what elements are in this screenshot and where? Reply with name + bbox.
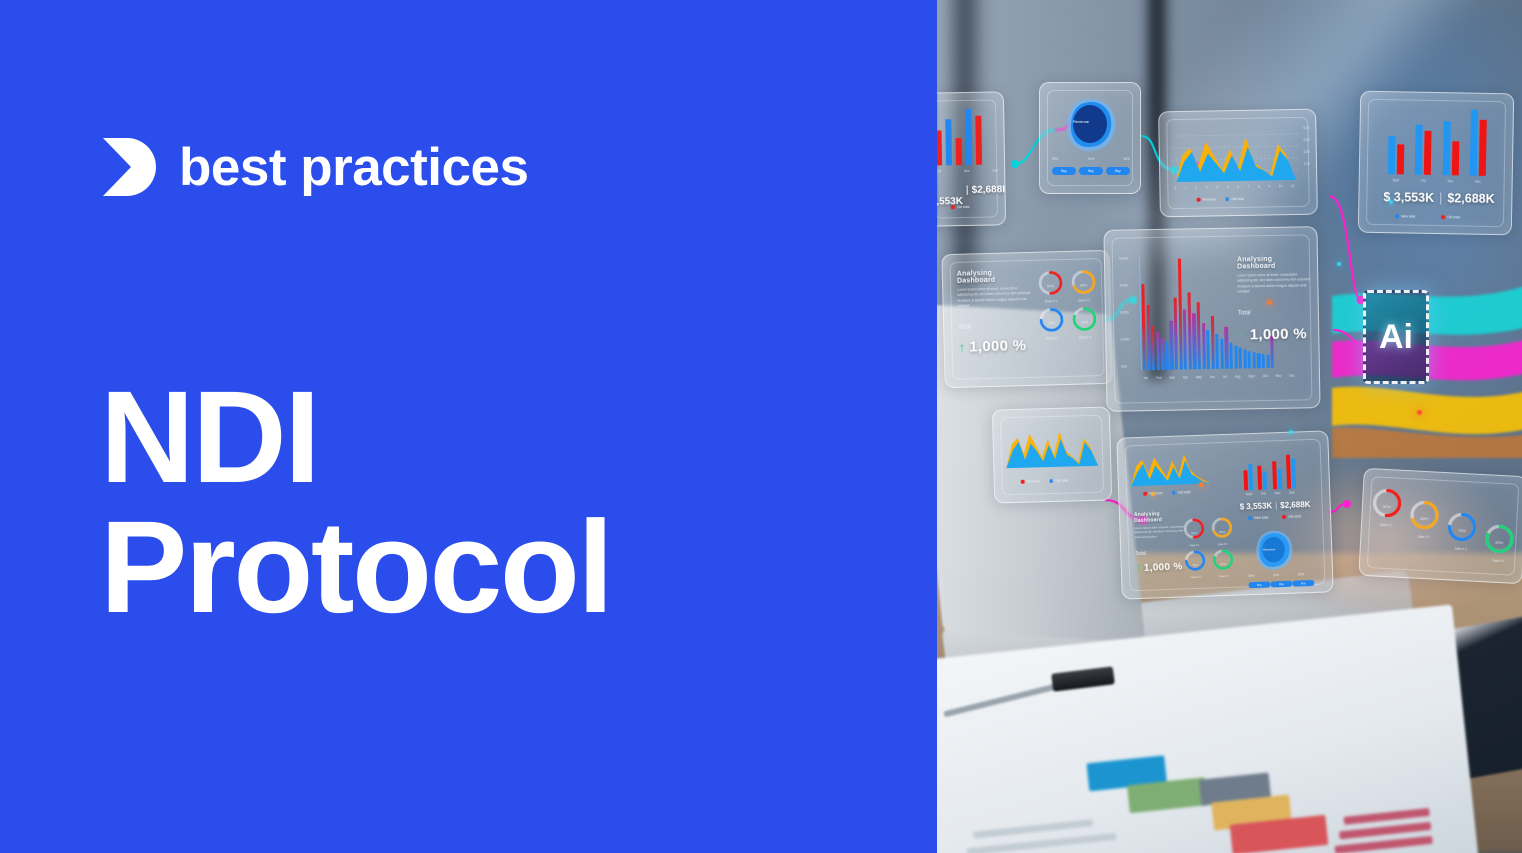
axis-tick: Jan [1143, 376, 1148, 380]
panel-body: Lorem ipsum dolor sit amet, consectetur … [957, 286, 1032, 309]
axis-tick: 3,00 [1304, 150, 1310, 154]
panel-area-top[interactable]: 5,00 4,00 3,00 2,00 0123 4567 891011 Rev… [1158, 109, 1318, 218]
gauge-data-1[interactable]: 50% Data # 1 [1037, 270, 1065, 304]
trend-up-icon: ↑ [1136, 563, 1141, 573]
promo-banner: best practices NDI Protocol [0, 0, 1522, 853]
axis-tick: Sept [1393, 178, 1400, 182]
value-old-total: $2,688K [972, 184, 1007, 196]
separator: | [1439, 191, 1442, 205]
panel-revenue[interactable]: Revenue 39% 34% 63% Buy Buy Buy [1039, 82, 1141, 194]
axis-tick: 4,000 [1119, 283, 1128, 287]
legend-old: Old total [1441, 215, 1460, 219]
buy-button[interactable]: Buy [1292, 580, 1314, 587]
stat-value: 34% [1088, 157, 1094, 161]
axis-tick: 5,00 [1303, 126, 1309, 130]
value-old-total: $2,688K [1280, 500, 1311, 510]
gauge-data-2[interactable]: 68% Data # 2 [1407, 499, 1441, 540]
gauge-value: 68% [1211, 530, 1234, 535]
axis-tick: Dec [1289, 491, 1295, 495]
axis-tick: May [1196, 375, 1202, 379]
gauge-data-4[interactable]: 80% Data # 4 [1482, 523, 1516, 564]
hero-photo: Oct Nov Dec $ 3,553K | $2,688K Old total… [937, 0, 1522, 853]
buy-button[interactable]: Buy [1248, 581, 1270, 588]
axis-tick: Sept [1248, 374, 1255, 378]
panel-main-dashboard[interactable]: 5,000 4,000 3,000 2,000 100 [1103, 226, 1320, 412]
axis-tick: Oct [1263, 374, 1268, 378]
sparkle [1389, 200, 1393, 204]
axis-tick: Jun [1210, 375, 1215, 379]
panel-title: Analysing Dashboard [1134, 510, 1184, 524]
trend-up-icon: ↑ [1238, 328, 1245, 341]
axis-tick: Nov [1275, 491, 1281, 495]
gauge-data-3[interactable]: 75% Data # 3 [1038, 307, 1066, 341]
total-label: Total [958, 323, 1032, 331]
panel-bars-left[interactable]: Oct Nov Dec $ 3,553K | $2,688K Old total [937, 91, 1006, 226]
stat-value: 34% [1273, 573, 1280, 577]
gauge-data-1[interactable]: 50% Data # 1 [1182, 518, 1206, 548]
page-title: NDI Protocol [100, 372, 611, 631]
panel-bars-right[interactable]: Sept Oct Nov Dec $ 3,553K | $2,688K New … [1358, 91, 1514, 236]
axis-tick: Nov [1448, 179, 1454, 183]
legend-old: Old total [951, 205, 970, 209]
legend-revenue: Revenue [1197, 197, 1217, 201]
buy-button[interactable]: Buy [1052, 167, 1076, 175]
legend-old: Old total [1225, 197, 1244, 201]
axis-tick: Aug [1235, 375, 1241, 379]
stat-value: 63% [1124, 157, 1130, 161]
gauge-value: 68% [1070, 283, 1097, 288]
legend-old: Old total [1049, 479, 1068, 483]
gauge-label: Data # 3 [1445, 546, 1477, 552]
revenue-center-label: Revenue [1263, 547, 1275, 551]
panel-composite-bottom[interactable]: Revenue Old total Sept Oct Nov Dec $ 3,5… [1116, 430, 1334, 599]
gauge-label: Data # 1 [1370, 522, 1402, 528]
area-chart [1003, 420, 1100, 470]
axis-tick: Dec [992, 168, 998, 172]
left-blue-panel: best practices NDI Protocol [0, 0, 937, 853]
axis-tick: Oct [1261, 492, 1266, 496]
buy-button[interactable]: Buy [1106, 167, 1130, 175]
gauge-value: 75% [1038, 321, 1065, 326]
chip-body: Ai [1363, 290, 1429, 384]
buy-button[interactable]: Buy [1079, 167, 1103, 175]
gauge-data-4[interactable]: 80% Data # 4 [1211, 549, 1235, 579]
panel-body: Lorem ipsum dolor sit amet, consectetur … [1134, 524, 1184, 539]
sparkle [1267, 300, 1272, 305]
legend-new: New total [1248, 515, 1268, 520]
gauge-label: Data # 4 [1071, 335, 1098, 340]
gauge-value: 50% [1183, 531, 1206, 536]
gauge-label: Data # 2 [1070, 298, 1097, 303]
legend-old: Old total [1172, 490, 1191, 495]
axis-tick: Sept [1246, 492, 1253, 496]
gauge-label: Data # 1 [1183, 544, 1206, 548]
revenue-blob-chart [1064, 97, 1118, 153]
stat-value: 39% [1248, 574, 1255, 578]
panel-donuts-left[interactable]: Analysing Dashboard Lorem ipsum dolor si… [941, 250, 1112, 388]
legend-old: Old total [1282, 514, 1301, 519]
legend-new: New total [1395, 214, 1415, 218]
axis-tick: 3,000 [1120, 310, 1129, 314]
separator: | [966, 185, 969, 196]
panel-title: Analysing Dashboard [1237, 255, 1311, 270]
gauge-label: Data # 3 [1038, 336, 1065, 341]
sparkle [1151, 492, 1155, 496]
total-label: Total [1238, 309, 1312, 316]
panel-donuts-row[interactable]: 50% Data # 1 68% Data # 2 75% Data # 3 8… [1358, 468, 1522, 584]
gauge-data-4[interactable]: 80% Data # 4 [1071, 306, 1099, 340]
ai-chip-icon[interactable]: Ai [1355, 282, 1437, 392]
legend-revenue: Revenue [1021, 479, 1041, 484]
gauge-value: 50% [1037, 284, 1064, 289]
gauge-data-3[interactable]: 75% Data # 3 [1183, 550, 1207, 580]
axis-tick: Oct [1421, 179, 1426, 183]
total-label: Total [1135, 549, 1185, 557]
sparkle [1289, 430, 1293, 434]
axis-tick: Apr [1183, 375, 1188, 379]
sparkle [1337, 262, 1341, 266]
total-value: 1,000 % [1144, 561, 1183, 573]
gauge-data-2[interactable]: 68% Data # 2 [1210, 517, 1234, 547]
axis-tick: 2,00 [1304, 162, 1310, 166]
trend-up-icon: ↑ [959, 341, 966, 354]
gauge-label: Data # 2 [1211, 543, 1234, 547]
panel-title: Analysing Dashboard [957, 269, 1031, 285]
gauge-label: Data # 2 [1407, 534, 1439, 540]
axis-tick: Feb [1156, 376, 1162, 380]
buy-button[interactable]: Buy [1270, 581, 1292, 588]
axis-tick: 2,000 [1120, 337, 1129, 341]
gauge-data-2[interactable]: 68% Data # 2 [1070, 269, 1098, 303]
sparkle [1417, 410, 1422, 415]
sparkle [1199, 482, 1204, 487]
axis-tick: Dec [1475, 180, 1481, 184]
axis-tick: Nov [964, 169, 970, 173]
axis-tick: Jul [1223, 375, 1227, 379]
value-old-total: $2,688K [1447, 191, 1495, 206]
gauge-data-1[interactable]: 50% Data # 1 [1370, 487, 1404, 528]
brand-name: best practices [179, 141, 528, 194]
axis-tick: Mar [1169, 376, 1175, 380]
revenue-center-label: Revenue [1073, 119, 1089, 124]
gauge-value: 80% [1071, 320, 1098, 325]
arrow-chevron-logo-icon [101, 136, 157, 198]
axis-tick: Nov [1276, 374, 1282, 378]
total-value: 1,000 % [969, 337, 1027, 355]
axis-tick: 100 [1121, 364, 1130, 368]
area-chart [1171, 124, 1300, 184]
panel-area-lower[interactable]: Revenue Old total [992, 406, 1112, 503]
gauge-value: 75% [1184, 563, 1207, 568]
ai-chip-label: Ai [1379, 320, 1413, 354]
axis-tick: Dec [1289, 374, 1295, 378]
stat-value: 39% [1052, 157, 1058, 161]
gauge-data-3[interactable]: 75% Data # 3 [1445, 511, 1479, 552]
gauge-value: 80% [1212, 562, 1235, 567]
gauge-label: Data # 1 [1037, 299, 1064, 304]
total-value: 1,000 % [1250, 325, 1307, 343]
axis-tick: 4,00 [1303, 138, 1309, 142]
brand-lockup: best practices [101, 136, 528, 198]
panel-body: Lorem ipsum dolor sit amet, consectetur … [1237, 272, 1311, 294]
stat-value: 63% [1298, 572, 1305, 576]
axis-tick: 5,000 [1119, 256, 1128, 260]
value-new-total: $ 3,553K [1240, 501, 1273, 511]
axis-tick: Oct [937, 169, 941, 173]
